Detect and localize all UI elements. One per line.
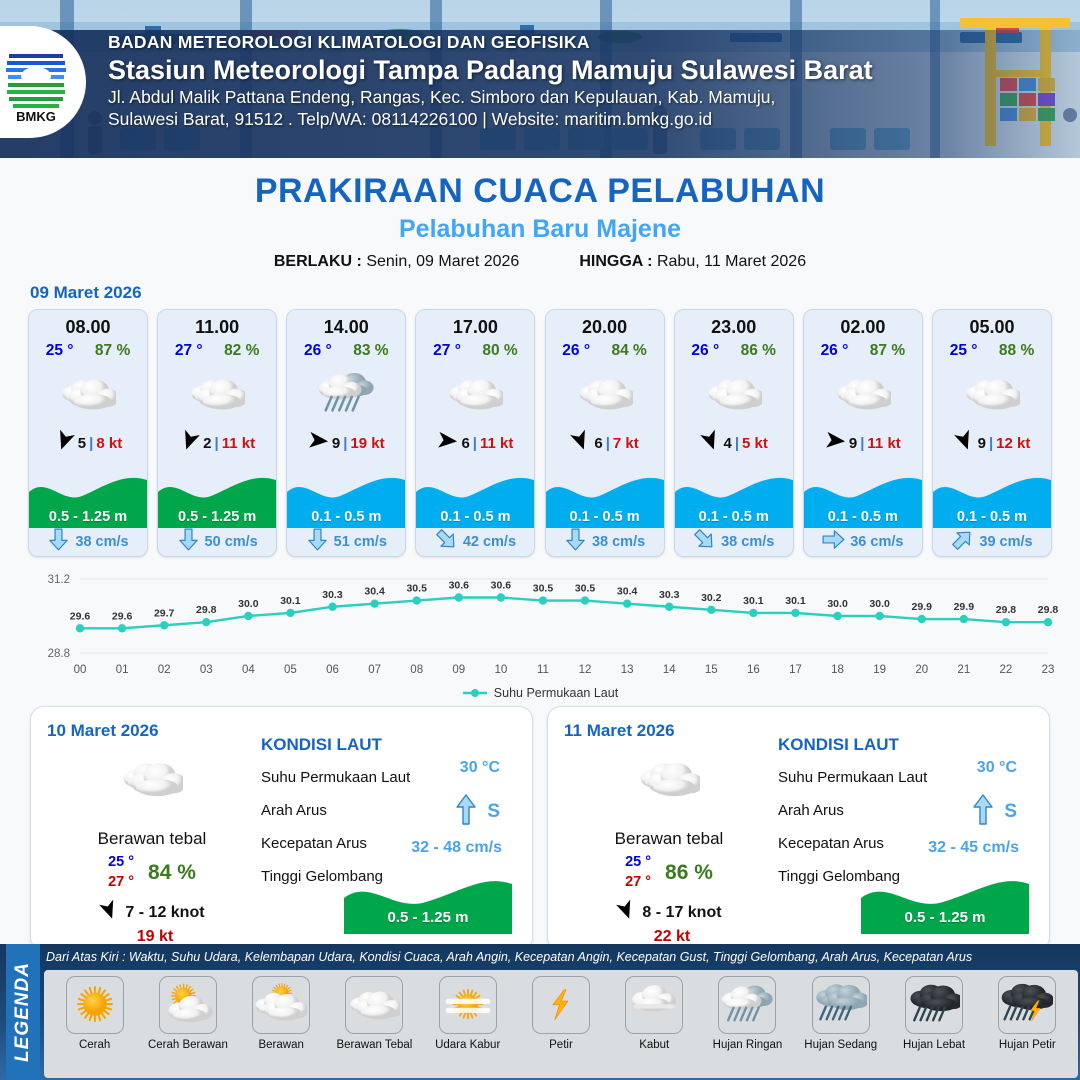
panel-arah-direction: S [1004, 801, 1017, 823]
svg-text:19: 19 [873, 664, 886, 676]
valid-to-label: HINGGA : [579, 253, 652, 270]
card-wave-height: 0.1 - 0.5 m [933, 509, 1051, 528]
card-wind: 5 | 8 kt [29, 430, 147, 456]
valid-to: HINGGA : Rabu, 11 Maret 2026 [579, 253, 806, 271]
hujan-ringan-icon [718, 976, 776, 1034]
forecast-card: 20.00 26 ° 84 % 6 | 7 kt [545, 309, 665, 557]
card-humidity: 87 % [870, 342, 905, 360]
port-name: Pelabuhan Baru Majene [0, 215, 1080, 244]
forecast-date-label: 09 Maret 2026 [30, 283, 1080, 303]
card-wind-degree: 9 [332, 435, 340, 452]
panel-arah-value-group: S [970, 793, 1017, 830]
svg-text:30.0: 30.0 [827, 598, 848, 610]
legend-bar: LEGENDA Dari Atas Kiri : Waktu, Suhu Uda… [0, 944, 1080, 1080]
card-humidity: 86 % [741, 342, 776, 360]
card-wind: 6 | 11 kt [416, 430, 534, 456]
card-time: 20.00 [546, 317, 664, 338]
current-direction-arrow-icon [306, 530, 329, 554]
legend-item-label: Berawan Tebal [336, 1039, 412, 1051]
panel-arah-label: Arah Arus [778, 802, 844, 819]
bmkg-logo-mark: BMKG [3, 40, 69, 124]
svg-text:29.9: 29.9 [912, 601, 933, 613]
card-wave-zone: 0.1 - 0.5 m 38 cm/s [546, 470, 664, 556]
card-humidity: 84 % [611, 342, 646, 360]
card-time: 08.00 [29, 317, 147, 338]
valid-from-label: BERLAKU : [274, 253, 362, 270]
address-line-2: Sulawesi Barat, 91512 . Telp/WA: 0811422… [108, 109, 873, 130]
card-temp-humidity: 27 ° 80 % [416, 342, 534, 360]
panel-right: KONDISI LAUT Suhu Permukaan Laut Arah Ar… [257, 721, 516, 936]
card-temp-humidity: 26 ° 83 % [287, 342, 405, 360]
card-wave-height: 0.1 - 0.5 m [675, 509, 793, 528]
sst-chart: 28.831.229.60029.60129.70229.80330.00430… [18, 567, 1062, 685]
card-temperature: 26 ° [691, 342, 719, 360]
panel-temp-min: 25 ° [625, 853, 651, 873]
card-wind-degree: 4 [724, 435, 732, 452]
card-time: 05.00 [933, 317, 1051, 338]
card-wind: 4 | 5 kt [675, 430, 793, 456]
svg-text:22: 22 [1000, 664, 1013, 676]
panel-date: 11 Maret 2026 [564, 721, 774, 741]
wind-direction-arrow-icon [179, 430, 200, 456]
panel-kec-label: Kecepatan Arus [778, 835, 884, 852]
station-name: Stasiun Meteorologi Tampa Padang Mamuju … [108, 55, 873, 86]
panel-wave-box: 0.5 - 1.25 m [344, 872, 512, 934]
berawan-tebal-icon [416, 363, 534, 425]
sst-chart-svg: 28.831.229.60029.60129.70229.80330.00430… [18, 567, 1062, 685]
svg-text:30.0: 30.0 [238, 598, 259, 610]
panel-left: 11 Maret 2026 Berawan tebal 25 ° 27 ° [564, 721, 774, 936]
legenda-side-label: LEGENDA [12, 962, 34, 1062]
card-temp-humidity: 27 ° 82 % [158, 342, 276, 360]
hujan-petir-icon [998, 976, 1056, 1034]
legend-note: Dari Atas Kiri : Waktu, Suhu Udara, Kele… [46, 950, 972, 964]
panel-wind-speed: 8 - 17 knot [642, 904, 721, 922]
card-time: 11.00 [158, 317, 276, 338]
svg-text:21: 21 [957, 664, 970, 676]
forecast-card: 02.00 26 ° 87 % 9 | 11 kt [803, 309, 923, 557]
legend-item: Cerah [48, 976, 141, 1051]
validity-row: BERLAKU : Senin, 09 Maret 2026 HINGGA : … [0, 253, 1080, 271]
valid-to-value: Rabu, 11 Maret 2026 [657, 253, 806, 270]
current-direction-arrow-icon [177, 530, 200, 554]
wind-separator: | [606, 435, 610, 452]
card-temp-humidity: 25 ° 87 % [29, 342, 147, 360]
card-current: 51 cm/s [287, 528, 405, 556]
card-temperature: 27 ° [433, 342, 461, 360]
card-wind-degree: 6 [594, 435, 602, 452]
card-wind-speed: 11 kt [222, 435, 255, 452]
svg-text:04: 04 [242, 664, 255, 676]
card-wind-speed: 19 kt [350, 435, 384, 452]
card-wind: 9 | 11 kt [804, 430, 922, 456]
panel-kec-value: 32 - 45 cm/s [928, 839, 1019, 857]
svg-text:30.5: 30.5 [575, 583, 596, 595]
card-wave-height: 0.1 - 0.5 m [287, 509, 405, 528]
wind-direction-arrow-icon [700, 430, 721, 456]
kabut-icon [625, 976, 683, 1034]
current-direction-arrow-icon [822, 530, 845, 554]
svg-text:29.6: 29.6 [70, 610, 91, 622]
current-direction-arrow-icon [564, 530, 587, 554]
legend-item: Petir [514, 976, 607, 1051]
svg-text:30.2: 30.2 [701, 592, 722, 604]
panel-kec-label: Kecepatan Arus [261, 835, 367, 852]
svg-text:02: 02 [158, 664, 171, 676]
panel-condition: Berawan tebal [564, 829, 774, 849]
berawan-tebal-icon [29, 363, 147, 425]
svg-text:13: 13 [621, 664, 634, 676]
legend-item-label: Hujan Lebat [903, 1039, 965, 1051]
wind-separator: | [735, 435, 739, 452]
svg-text:16: 16 [747, 664, 760, 676]
panel-temp-min: 25 ° [108, 853, 134, 873]
legend-item: Cerah Berawan [141, 976, 234, 1051]
card-current: 38 cm/s [546, 528, 664, 556]
card-wind-degree: 5 [78, 435, 86, 452]
panel-condition: Berawan tebal [47, 829, 257, 849]
panel-wave-value: 0.5 - 1.25 m [344, 909, 512, 926]
card-wave-height: 0.5 - 1.25 m [158, 509, 276, 528]
current-direction-arrow-icon [693, 530, 716, 554]
panel-date: 10 Maret 2026 [47, 721, 257, 741]
svg-text:29.6: 29.6 [112, 610, 133, 622]
panel-sst-label: Suhu Permukaan Laut [261, 769, 410, 786]
panel-temp-max: 27 ° [625, 873, 651, 893]
daily-summary-panels: 10 Maret 2026 Berawan tebal 25 ° 27 ° [0, 700, 1080, 951]
card-wave-zone: 0.5 - 1.25 m 38 cm/s [29, 470, 147, 556]
svg-text:10: 10 [494, 664, 507, 676]
card-temperature: 25 ° [46, 342, 74, 360]
udara-kabur-icon [439, 976, 497, 1034]
wind-direction-arrow-icon [954, 430, 975, 456]
card-wave-zone: 0.5 - 1.25 m 50 cm/s [158, 470, 276, 556]
legend-item: Hujan Sedang [794, 976, 887, 1051]
forecast-cards-row: 08.00 25 ° 87 % 5 | 8 kt [0, 309, 1080, 557]
card-current-speed: 38 cm/s [592, 534, 645, 550]
card-wind: 2 | 11 kt [158, 430, 276, 456]
berawan-tebal-icon [804, 363, 922, 425]
svg-text:17: 17 [789, 664, 802, 676]
svg-text:11: 11 [537, 664, 549, 676]
card-temperature: 26 ° [821, 342, 849, 360]
svg-text:30.5: 30.5 [533, 583, 554, 595]
wind-direction-arrow-icon [99, 900, 119, 925]
card-wave-zone: 0.1 - 0.5 m 36 cm/s [804, 470, 922, 556]
card-current-speed: 50 cm/s [205, 534, 258, 550]
chart-legend: Suhu Permukaan Laut [0, 686, 1080, 700]
card-current: 42 cm/s [416, 528, 534, 556]
current-direction-arrow-icon [951, 530, 974, 554]
card-current-speed: 38 cm/s [721, 534, 774, 550]
panel-wind: 7 - 12 knot [47, 900, 257, 925]
svg-text:23: 23 [1042, 664, 1055, 676]
card-wave-height: 0.1 - 0.5 m [546, 509, 664, 528]
legend-item: Udara Kabur [421, 976, 514, 1051]
svg-text:30.1: 30.1 [785, 595, 806, 607]
card-time: 02.00 [804, 317, 922, 338]
svg-text:29.8: 29.8 [196, 604, 217, 616]
legend-item: Hujan Ringan [701, 976, 794, 1051]
card-time: 14.00 [287, 317, 405, 338]
card-temp-humidity: 26 ° 87 % [804, 342, 922, 360]
wind-direction-arrow-icon [825, 430, 846, 456]
card-wind-degree: 9 [849, 435, 857, 452]
svg-text:29.9: 29.9 [954, 601, 975, 613]
svg-text:09: 09 [452, 664, 465, 676]
card-current: 36 cm/s [804, 528, 922, 556]
berawan-tebal-icon [933, 363, 1051, 425]
forecast-card: 17.00 27 ° 80 % 6 | 11 kt [415, 309, 535, 557]
valid-from-value: Senin, 09 Maret 2026 [366, 253, 519, 270]
address-line-1: Jl. Abdul Malik Pattana Endeng, Rangas, … [108, 87, 873, 108]
card-temp-humidity: 25 ° 88 % [933, 342, 1051, 360]
panel-sst-value: 30 °C [977, 759, 1017, 777]
wind-direction-arrow-icon [616, 900, 636, 925]
berawan-tebal-icon [546, 363, 664, 425]
wind-direction-arrow-icon [308, 430, 329, 456]
berawan-tebal-icon [158, 363, 276, 425]
card-wind-speed: 8 kt [96, 435, 122, 452]
svg-text:31.2: 31.2 [48, 574, 70, 586]
legend-item-label: Berawan [258, 1039, 303, 1051]
card-wave-zone: 0.1 - 0.5 m 39 cm/s [933, 470, 1051, 556]
card-humidity: 88 % [999, 342, 1034, 360]
svg-text:30.4: 30.4 [364, 586, 385, 598]
svg-text:18: 18 [831, 664, 844, 676]
card-current: 39 cm/s [933, 528, 1051, 556]
current-direction-arrow-icon [970, 793, 996, 830]
card-wind-speed: 11 kt [867, 435, 900, 452]
hujan-sedang-icon [812, 976, 870, 1034]
wind-separator: | [343, 435, 347, 452]
page-title: PRAKIRAAN CUACA PELABUHAN [0, 172, 1080, 211]
card-temperature: 27 ° [175, 342, 203, 360]
svg-text:30.3: 30.3 [659, 589, 680, 601]
berawan-tebal-icon [47, 747, 257, 811]
svg-text:01: 01 [116, 664, 129, 676]
current-direction-arrow-icon [47, 530, 70, 554]
legend-item-label: Hujan Petir [999, 1039, 1056, 1051]
svg-text:03: 03 [200, 664, 213, 676]
svg-text:00: 00 [74, 664, 87, 676]
legend-item-label: Petir [549, 1039, 573, 1051]
svg-text:30.6: 30.6 [491, 580, 512, 592]
panel-temp-max: 27 ° [108, 873, 134, 893]
legenda-side-tab: LEGENDA [6, 944, 40, 1080]
card-wind-speed: 7 kt [613, 435, 639, 452]
panel-arah-value-group: S [453, 793, 500, 830]
svg-text:29.8: 29.8 [996, 604, 1017, 616]
card-temp-humidity: 26 ° 84 % [546, 342, 664, 360]
wind-separator: | [89, 435, 93, 452]
svg-text:07: 07 [368, 664, 381, 676]
wind-separator: | [473, 435, 477, 452]
legend-item-label: Cerah [79, 1039, 110, 1051]
panel-wave-value: 0.5 - 1.25 m [861, 909, 1029, 926]
wind-separator: | [989, 435, 993, 452]
card-temp-humidity: 26 ° 86 % [675, 342, 793, 360]
svg-text:15: 15 [705, 664, 718, 676]
current-direction-arrow-icon [453, 793, 479, 830]
card-wave-zone: 0.1 - 0.5 m 42 cm/s [416, 470, 534, 556]
berawan-tebal-icon [564, 747, 774, 811]
panel-sea-title: KONDISI LAUT [778, 735, 1033, 755]
panel-temp-range: 25 ° 27 ° [625, 853, 651, 892]
daily-summary-panel: 10 Maret 2026 Berawan tebal 25 ° 27 ° [30, 706, 533, 951]
svg-text:06: 06 [326, 664, 339, 676]
card-wave-zone: 0.1 - 0.5 m 51 cm/s [287, 470, 405, 556]
panel-wave-box: 0.5 - 1.25 m [861, 872, 1029, 934]
svg-text:29.7: 29.7 [154, 607, 175, 619]
panel-sst-label: Suhu Permukaan Laut [778, 769, 927, 786]
card-temperature: 25 ° [950, 342, 978, 360]
wind-separator: | [215, 435, 219, 452]
card-wind: 6 | 7 kt [546, 430, 664, 456]
svg-text:BMKG: BMKG [16, 109, 56, 124]
svg-text:05: 05 [284, 664, 297, 676]
daily-summary-panel: 11 Maret 2026 Berawan tebal 25 ° 27 ° [547, 706, 1050, 951]
card-wave-height: 0.1 - 0.5 m [804, 509, 922, 528]
forecast-card: 11.00 27 ° 82 % 2 | 11 kt [157, 309, 277, 557]
berawan-icon [252, 976, 310, 1034]
wind-direction-arrow-icon [437, 430, 458, 456]
card-current-speed: 51 cm/s [334, 534, 387, 550]
forecast-card: 05.00 25 ° 88 % 9 | 12 kt [932, 309, 1052, 557]
panel-humidity: 86 % [665, 861, 713, 885]
svg-text:08: 08 [410, 664, 423, 676]
cerah-icon [66, 976, 124, 1034]
card-wind-degree: 9 [978, 435, 986, 452]
legend-item: Hujan Lebat [887, 976, 980, 1051]
card-wave-height: 0.1 - 0.5 m [416, 509, 534, 528]
berawan-tebal-icon [675, 363, 793, 425]
forecast-card: 14.00 26 ° 83 % 9 | 19 kt [286, 309, 406, 557]
title-block: PRAKIRAAN CUACA PELABUHAN Pelabuhan Baru… [0, 158, 1080, 271]
svg-text:20: 20 [915, 664, 928, 676]
cerah-berawan-icon [159, 976, 217, 1034]
legend-item-label: Kabut [639, 1039, 669, 1051]
legend-item: Hujan Petir [981, 976, 1074, 1051]
petir-icon [532, 976, 590, 1034]
svg-text:30.1: 30.1 [280, 595, 301, 607]
header-text: BADAN METEOROLOGI KLIMATOLOGI DAN GEOFIS… [108, 32, 873, 130]
card-humidity: 80 % [482, 342, 517, 360]
svg-text:30.3: 30.3 [322, 589, 343, 601]
legend-item: Kabut [608, 976, 701, 1051]
hujan-lebat-icon [905, 976, 963, 1034]
panel-humidity: 84 % [148, 861, 196, 885]
svg-text:29.8: 29.8 [1038, 604, 1059, 616]
card-humidity: 82 % [224, 342, 259, 360]
svg-text:30.0: 30.0 [869, 598, 890, 610]
chart-legend-label: Suhu Permukaan Laut [494, 686, 618, 700]
panel-sst-value: 30 °C [460, 759, 500, 777]
card-time: 17.00 [416, 317, 534, 338]
panel-arah-direction: S [487, 801, 500, 823]
card-temperature: 26 ° [304, 342, 332, 360]
panel-temps: 25 ° 27 ° 84 % [47, 853, 257, 892]
agency-name: BADAN METEOROLOGI KLIMATOLOGI DAN GEOFIS… [108, 32, 873, 53]
card-current: 50 cm/s [158, 528, 276, 556]
card-current: 38 cm/s [675, 528, 793, 556]
card-humidity: 87 % [95, 342, 130, 360]
panel-right: KONDISI LAUT Suhu Permukaan Laut Arah Ar… [774, 721, 1033, 936]
legend-item-label: Hujan Ringan [713, 1039, 783, 1051]
svg-text:14: 14 [663, 664, 676, 676]
card-wave-zone: 0.1 - 0.5 m 38 cm/s [675, 470, 793, 556]
legend-item-label: Cerah Berawan [148, 1039, 228, 1051]
panel-wind: 8 - 17 knot [564, 900, 774, 925]
svg-text:12: 12 [579, 664, 592, 676]
berawan-tebal-icon [345, 976, 403, 1034]
card-humidity: 83 % [353, 342, 388, 360]
forecast-card: 08.00 25 ° 87 % 5 | 8 kt [28, 309, 148, 557]
valid-from: BERLAKU : Senin, 09 Maret 2026 [274, 253, 519, 271]
chart-legend-marker [462, 687, 488, 699]
svg-text:30.4: 30.4 [617, 586, 638, 598]
legend-item: Berawan Tebal [328, 976, 421, 1051]
legend-items-row: Cerah Cerah Berawan Beraw [44, 970, 1078, 1078]
current-direction-arrow-icon [435, 530, 458, 554]
legend-item-label: Udara Kabur [435, 1039, 500, 1051]
card-wind: 9 | 19 kt [287, 430, 405, 456]
card-wind-speed: 5 kt [742, 435, 768, 452]
wind-direction-arrow-icon [570, 430, 591, 456]
svg-text:28.8: 28.8 [48, 648, 70, 660]
panel-temps: 25 ° 27 ° 86 % [564, 853, 774, 892]
svg-text:30.6: 30.6 [449, 580, 470, 592]
card-wind-degree: 6 [461, 435, 469, 452]
card-time: 23.00 [675, 317, 793, 338]
wind-separator: | [860, 435, 864, 452]
card-temperature: 26 ° [562, 342, 590, 360]
page-header: BMKG BADAN METEOROLOGI KLIMATOLOGI DAN G… [0, 0, 1080, 158]
hujan-ringan-icon [287, 363, 405, 425]
wind-direction-arrow-icon [54, 430, 75, 456]
panel-kec-value: 32 - 48 cm/s [411, 839, 502, 857]
panel-left: 10 Maret 2026 Berawan tebal 25 ° 27 ° [47, 721, 257, 936]
card-wave-height: 0.5 - 1.25 m [29, 509, 147, 528]
panel-wind-speed: 7 - 12 knot [125, 904, 204, 922]
legend-item: Berawan [235, 976, 328, 1051]
card-current-speed: 42 cm/s [463, 534, 516, 550]
card-current: 38 cm/s [29, 528, 147, 556]
svg-text:30.1: 30.1 [743, 595, 764, 607]
svg-text:30.5: 30.5 [406, 583, 427, 595]
card-current-speed: 38 cm/s [75, 534, 128, 550]
card-wind: 9 | 12 kt [933, 430, 1051, 456]
card-current-speed: 36 cm/s [850, 534, 903, 550]
card-wind-speed: 12 kt [996, 435, 1030, 452]
panel-sea-title: KONDISI LAUT [261, 735, 516, 755]
forecast-card: 23.00 26 ° 86 % 4 | 5 kt [674, 309, 794, 557]
card-current-speed: 39 cm/s [979, 534, 1032, 550]
card-wind-degree: 2 [203, 435, 211, 452]
panel-temp-range: 25 ° 27 ° [108, 853, 134, 892]
legend-item-label: Hujan Sedang [804, 1039, 877, 1051]
card-wind-speed: 11 kt [480, 435, 513, 452]
panel-arah-label: Arah Arus [261, 802, 327, 819]
